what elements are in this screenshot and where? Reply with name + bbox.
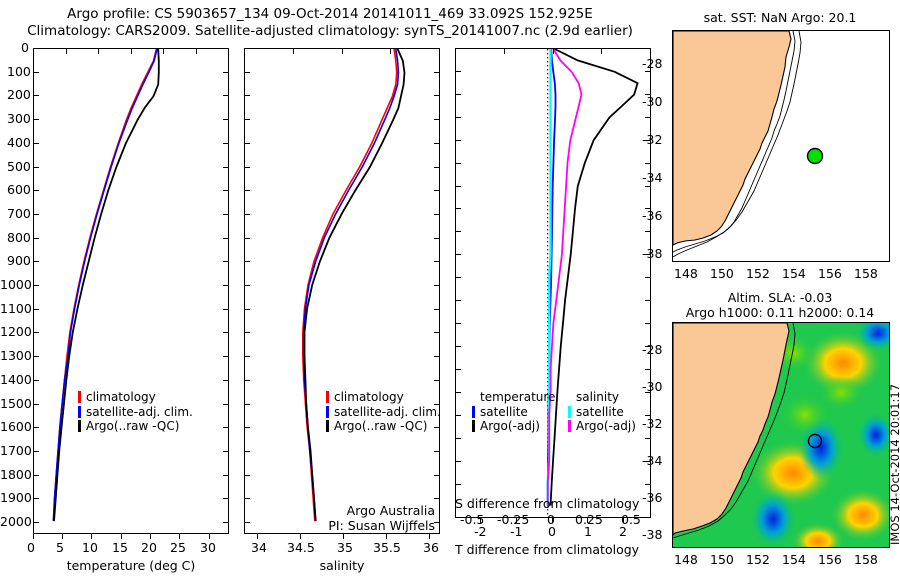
depth-tick <box>455 484 461 485</box>
x-tick <box>342 48 343 54</box>
lon-tick-label: 156 <box>818 552 842 567</box>
xtick-label: 36 <box>423 540 439 555</box>
depth-tick <box>455 231 461 232</box>
depth-tick <box>244 167 250 168</box>
depth-tick <box>223 95 229 96</box>
depth-tick <box>455 254 461 255</box>
difference-curves <box>456 49 650 517</box>
difference-legend-temperature: temperature satellite Argo(-adj) <box>472 390 555 434</box>
x-tick <box>98 48 99 54</box>
lat-tick-label: -32 <box>642 132 662 147</box>
depth-tick-label: 400 <box>7 135 31 150</box>
depth-tick <box>434 522 440 523</box>
xtick-label: 34.5 <box>287 540 315 555</box>
depth-tick <box>244 72 250 73</box>
depth-tick <box>645 369 651 370</box>
x-tick <box>553 48 554 54</box>
x-tick <box>504 48 505 54</box>
depth-tick <box>645 438 651 439</box>
legend-label: Argo(-adj) <box>480 419 540 434</box>
depth-tick-label: 1700 <box>0 443 32 458</box>
temperature-axis-label: temperature (deg C) <box>33 558 229 573</box>
title-line-1: Argo profile: CS 5903657_134 09-Oct-2014… <box>0 6 660 23</box>
depth-tick-label: 300 <box>7 111 31 126</box>
depth-tick <box>455 300 461 301</box>
depth-tick <box>434 285 440 286</box>
salinity-legend: climatology satellite-adj. clim. Argo(..… <box>326 390 441 434</box>
depth-tick <box>455 369 461 370</box>
difference-legend-salinity: salinity satellite Argo(-adj) <box>568 390 636 434</box>
depth-tick <box>244 95 250 96</box>
legend-item: Argo(..raw -QC) <box>326 419 441 434</box>
depth-tick-label: 200 <box>7 87 31 102</box>
title-line-2: Climatology: CARS2009. Satellite-adjuste… <box>0 23 660 40</box>
depth-tick <box>244 261 250 262</box>
depth-tick <box>434 427 440 428</box>
depth-tick <box>33 522 39 523</box>
ttick-label: 1 <box>584 524 592 539</box>
legend-swatch-satellite <box>78 406 81 418</box>
depth-tick <box>33 309 39 310</box>
temperature-curves <box>34 49 228 533</box>
depth-tick <box>33 72 39 73</box>
x-tick <box>228 48 229 54</box>
depth-tick <box>223 72 229 73</box>
depth-tick <box>33 380 39 381</box>
lon-tick-label: 158 <box>854 552 878 567</box>
x-tick <box>66 48 67 54</box>
lon-tick-label: 148 <box>674 552 698 567</box>
depth-tick-label: 1600 <box>0 419 32 434</box>
xtick-label: 5 <box>56 540 64 555</box>
lat-tick-label: -28 <box>642 342 662 357</box>
legend-swatch-s-argo <box>568 420 571 432</box>
depth-tick <box>223 309 229 310</box>
depth-tick <box>33 427 39 428</box>
lat-tick-label: -34 <box>642 453 662 468</box>
depth-tick-label: 1200 <box>0 324 32 339</box>
legend-label: climatology <box>334 390 404 405</box>
depth-tick <box>434 475 440 476</box>
depth-tick-label: 0 <box>21 40 29 55</box>
lon-tick-label: 152 <box>746 552 770 567</box>
depth-tick <box>223 475 229 476</box>
depth-tick <box>244 119 250 120</box>
depth-tick <box>455 438 461 439</box>
depth-tick-label: 700 <box>7 206 31 221</box>
depth-tick <box>645 186 651 187</box>
depth-tick <box>645 484 651 485</box>
x-tick <box>650 48 651 54</box>
depth-tick <box>455 346 461 347</box>
depth-tick <box>434 498 440 499</box>
sla-title-line-1: Altim. SLA: -0.03 <box>660 290 900 305</box>
depth-tick-label: 1100 <box>0 301 32 316</box>
xtick-label: 34 <box>251 540 267 555</box>
depth-tick <box>455 461 461 462</box>
depth-tick-label: 100 <box>7 64 31 79</box>
depth-tick-label: 500 <box>7 159 31 174</box>
depth-tick <box>33 498 39 499</box>
depth-tick <box>244 522 250 523</box>
depth-tick <box>455 140 461 141</box>
argo-australia-label: Argo Australia <box>250 503 435 518</box>
salinity-curves <box>245 49 439 533</box>
depth-tick-label: 1900 <box>0 490 32 505</box>
legend-heading-temperature: temperature <box>472 390 555 405</box>
depth-tick <box>244 427 250 428</box>
depth-tick <box>645 323 651 324</box>
lat-tick-label: -38 <box>642 527 662 542</box>
depth-tick <box>244 498 250 499</box>
depth-tick <box>33 190 39 191</box>
depth-tick <box>223 427 229 428</box>
depth-tick <box>33 332 39 333</box>
depth-tick <box>223 167 229 168</box>
depth-tick <box>455 163 461 164</box>
legend-item: Argo(-adj) <box>568 419 636 434</box>
depth-tick-label: 1800 <box>0 467 32 482</box>
lat-tick-label: -38 <box>642 246 662 261</box>
xtick-label: 25 <box>170 540 186 555</box>
depth-tick <box>223 380 229 381</box>
legend-label: satellite-adj. clim. <box>334 405 441 420</box>
sla-map-graphic <box>673 323 889 547</box>
depth-tick <box>434 261 440 262</box>
legend-swatch-climatology <box>78 391 81 403</box>
lon-tick-label: 158 <box>854 266 878 281</box>
lon-tick-label: 156 <box>818 266 842 281</box>
depth-tick-label: 1000 <box>0 277 32 292</box>
xtick-label: 0 <box>27 540 35 555</box>
depth-tick <box>434 143 440 144</box>
legend-item: Argo(-adj) <box>472 419 555 434</box>
depth-tick <box>223 238 229 239</box>
depth-tick <box>223 285 229 286</box>
x-tick <box>244 48 245 54</box>
legend-label: satellite <box>576 405 624 420</box>
xtick-label: 20 <box>141 540 157 555</box>
depth-tick <box>645 163 651 164</box>
panel-temperature <box>33 48 229 534</box>
legend-item: climatology <box>78 390 193 405</box>
lon-tick-label: 154 <box>782 552 806 567</box>
lat-tick-label: -34 <box>642 170 662 185</box>
ttick-label: 0 <box>548 524 556 539</box>
legend-item: satellite-adj. clim. <box>78 405 193 420</box>
legend-item: satellite <box>568 405 636 420</box>
depth-tick <box>434 380 440 381</box>
depth-tick <box>455 94 461 95</box>
argo-float-marker <box>808 149 823 164</box>
map-sla <box>672 322 890 548</box>
depth-tick <box>455 277 461 278</box>
lat-tick-label: -32 <box>642 416 662 431</box>
sla-title-line-2: Argo h1000: 0.11 h2000: 0.14 <box>660 305 900 320</box>
depth-tick <box>33 143 39 144</box>
sla-map-title: Altim. SLA: -0.03 Argo h1000: 0.11 h2000… <box>660 290 900 320</box>
x-tick <box>455 48 456 54</box>
depth-tick <box>455 208 461 209</box>
lat-tick-label: -30 <box>642 94 662 109</box>
depth-tick <box>434 332 440 333</box>
depth-tick <box>434 356 440 357</box>
legend-swatch-t-satellite <box>472 406 475 418</box>
legend-swatch-t-argo <box>472 420 475 432</box>
depth-tick <box>434 119 440 120</box>
x-tick <box>196 48 197 54</box>
depth-tick <box>33 451 39 452</box>
t-difference-axis-label: T difference from climatology <box>455 542 655 557</box>
depth-tick <box>434 309 440 310</box>
depth-tick <box>455 392 461 393</box>
depth-tick <box>223 214 229 215</box>
depth-tick <box>455 415 461 416</box>
x-tick <box>601 48 602 54</box>
s-difference-axis-label: S difference from climatology <box>455 496 655 511</box>
depth-tick <box>223 119 229 120</box>
argo-australia-note: Argo Australia PI: Susan Wijffels <box>250 503 435 533</box>
depth-tick <box>244 475 250 476</box>
depth-tick <box>223 451 229 452</box>
depth-tick <box>223 261 229 262</box>
x-tick <box>390 48 391 54</box>
depth-tick <box>223 404 229 405</box>
legend-item: satellite-adj. clim. <box>326 405 441 420</box>
plot-title: Argo profile: CS 5903657_134 09-Oct-2014… <box>0 6 660 40</box>
legend-item: climatology <box>326 390 441 405</box>
legend-label: Argo(..raw -QC) <box>86 419 179 434</box>
x-tick <box>439 48 440 54</box>
x-tick <box>293 48 294 54</box>
legend-item: satellite <box>472 405 555 420</box>
legend-label: satellite <box>480 405 528 420</box>
depth-tick <box>223 498 229 499</box>
depth-tick <box>223 522 229 523</box>
map-sst <box>672 30 890 262</box>
depth-tick <box>455 323 461 324</box>
depth-tick <box>244 309 250 310</box>
depth-tick-label: 1300 <box>0 348 32 363</box>
depth-tick-label: 800 <box>7 230 31 245</box>
xtick-label: 10 <box>82 540 98 555</box>
lon-tick-label: 150 <box>710 266 734 281</box>
legend-label: satellite-adj. clim. <box>86 405 193 420</box>
xtick-label: 15 <box>112 540 128 555</box>
legend-swatch-argo <box>78 420 81 432</box>
depth-tick <box>244 451 250 452</box>
legend-item: Argo(..raw -QC) <box>78 419 193 434</box>
depth-tick <box>645 231 651 232</box>
pi-label: PI: Susan Wijffels <box>250 518 435 533</box>
legend-swatch-argo <box>326 420 329 432</box>
depth-tick <box>33 238 39 239</box>
x-tick <box>163 48 164 54</box>
depth-tick <box>244 285 250 286</box>
depth-tick <box>33 404 39 405</box>
lon-tick-label: 152 <box>746 266 770 281</box>
depth-tick <box>455 186 461 187</box>
depth-tick <box>244 356 250 357</box>
depth-tick <box>434 404 440 405</box>
legend-label: climatology <box>86 390 156 405</box>
xtick-label: 30 <box>200 540 216 555</box>
lat-tick-label: -36 <box>642 208 662 223</box>
depth-tick-label: 600 <box>7 182 31 197</box>
depth-tick <box>33 214 39 215</box>
depth-tick <box>33 167 39 168</box>
depth-tick <box>223 143 229 144</box>
lon-tick-label: 148 <box>674 266 698 281</box>
depth-tick <box>244 238 250 239</box>
ttick-label: -1 <box>510 524 522 539</box>
legend-heading-salinity: salinity <box>568 390 636 405</box>
ttick-label: 2 <box>619 524 627 539</box>
legend-swatch-satellite <box>326 406 329 418</box>
depth-tick <box>434 238 440 239</box>
lat-tick-label: -36 <box>642 490 662 505</box>
depth-tick <box>434 451 440 452</box>
x-tick <box>131 48 132 54</box>
depth-tick <box>244 214 250 215</box>
sst-map-graphic <box>673 31 889 261</box>
lon-tick-label: 150 <box>710 552 734 567</box>
depth-tick-label: 2000 <box>0 514 32 529</box>
depth-tick <box>244 332 250 333</box>
depth-tick <box>33 119 39 120</box>
lat-tick-label: -30 <box>642 379 662 394</box>
panel-salinity <box>244 48 440 534</box>
depth-tick <box>33 261 39 262</box>
depth-tick <box>33 95 39 96</box>
legend-swatch-climatology <box>326 391 329 403</box>
depth-tick <box>434 190 440 191</box>
legend-label: Argo(-adj) <box>576 419 636 434</box>
depth-tick <box>645 300 651 301</box>
ttick-label: -2 <box>474 524 486 539</box>
xtick-label: 35.5 <box>373 540 401 555</box>
depth-tick <box>223 332 229 333</box>
depth-tick-label: 900 <box>7 253 31 268</box>
depth-tick <box>33 285 39 286</box>
depth-tick <box>33 475 39 476</box>
temperature-legend: climatology satellite-adj. clim. Argo(..… <box>78 390 193 434</box>
panel-difference <box>455 48 651 518</box>
depth-tick <box>244 404 250 405</box>
depth-tick <box>244 380 250 381</box>
depth-tick-label: 1500 <box>0 396 32 411</box>
depth-tick <box>223 190 229 191</box>
depth-tick <box>455 71 461 72</box>
imos-timestamp: IMOS 14-Oct-2014 20:01:17 <box>888 384 900 545</box>
legend-swatch-s-satellite <box>568 406 571 418</box>
lat-tick-label: -28 <box>642 56 662 71</box>
depth-tick <box>434 167 440 168</box>
salinity-axis-label: salinity <box>244 558 440 573</box>
depth-tick <box>455 117 461 118</box>
depth-tick <box>434 72 440 73</box>
sst-map-title: sat. SST: NaN Argo: 20.1 <box>660 10 900 25</box>
depth-tick-label: 1400 <box>0 372 32 387</box>
depth-tick <box>223 356 229 357</box>
depth-tick <box>645 277 651 278</box>
legend-label: Argo(..raw -QC) <box>334 419 427 434</box>
depth-tick <box>244 143 250 144</box>
lon-tick-label: 154 <box>782 266 806 281</box>
xtick-label: 35 <box>337 540 353 555</box>
x-tick <box>33 48 34 54</box>
depth-tick <box>645 117 651 118</box>
depth-tick <box>434 214 440 215</box>
depth-tick <box>244 190 250 191</box>
depth-tick <box>33 356 39 357</box>
depth-tick <box>645 71 651 72</box>
depth-tick <box>434 95 440 96</box>
